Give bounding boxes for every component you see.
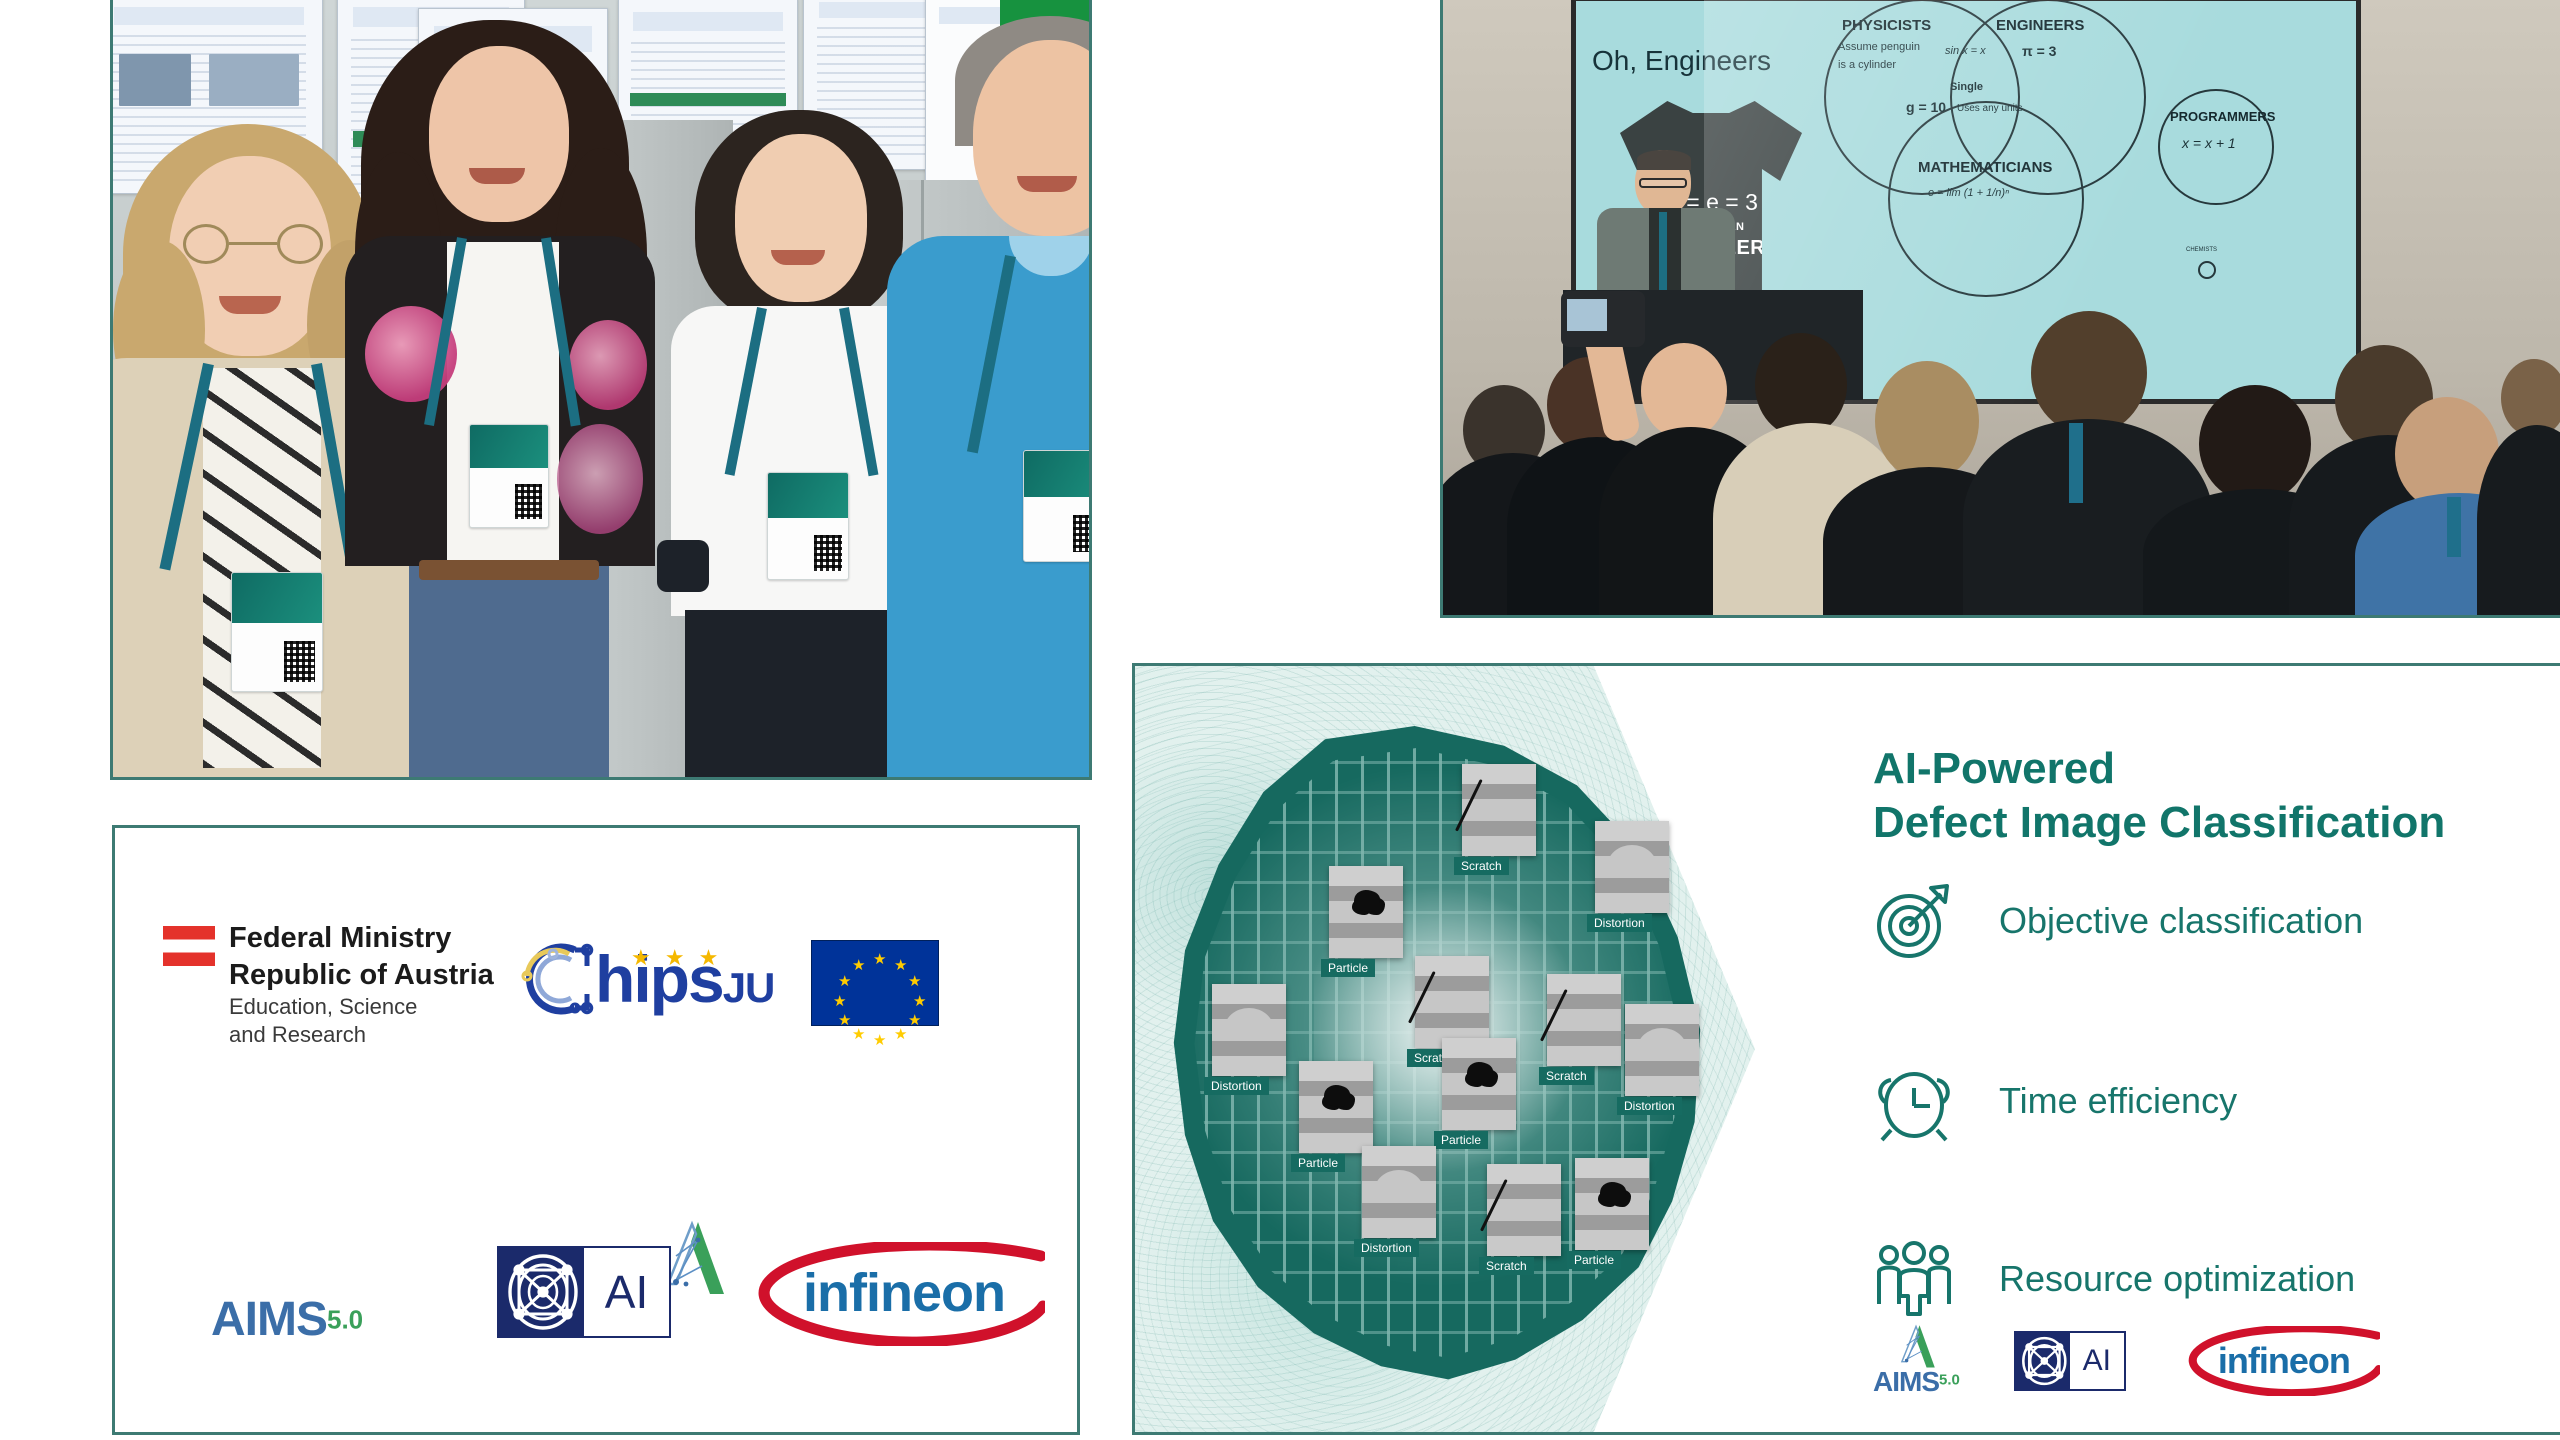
defect-tile-label: Particle bbox=[1291, 1154, 1345, 1172]
aims-mark-icon bbox=[1889, 1324, 1943, 1370]
chips-ju-suffix: JU bbox=[723, 964, 775, 1011]
aims-version: 5.0 bbox=[1939, 1372, 1960, 1389]
ministry-line-3: Education, Science bbox=[229, 993, 494, 1021]
jeans bbox=[409, 566, 609, 780]
defect-tile: Scratch bbox=[1547, 974, 1621, 1066]
logo-chips-ju: hipsJU ★ ★ ★ bbox=[513, 936, 774, 1022]
ai-logo-word: AI bbox=[584, 1248, 669, 1336]
defect-tile-label: Distortion bbox=[1354, 1239, 1419, 1257]
chips-stars: ★ ★ ★ bbox=[631, 945, 722, 971]
ai-logo-box: AI bbox=[497, 1246, 671, 1338]
lecture-hall-photo: Oh, Engineers π = e = 3 YES, I'M AN ENGI… bbox=[1440, 0, 2560, 618]
defect-tile-label: Scratch bbox=[1539, 1067, 1594, 1085]
alarm-clock-icon bbox=[1873, 1060, 1955, 1142]
chips-circuit-c-icon bbox=[513, 936, 599, 1022]
defect-tile-label: Distortion bbox=[1617, 1097, 1682, 1115]
defect-tile-label: Distortion bbox=[1204, 1077, 1269, 1095]
slide-heading-line-1: AI-Powered bbox=[1873, 742, 2445, 796]
defect-tile: Particle bbox=[1329, 866, 1403, 958]
feature-item-time: Time efficiency bbox=[1873, 1060, 2237, 1142]
feature-label: Time efficiency bbox=[1999, 1080, 2237, 1122]
aims-version: 5.0 bbox=[327, 1305, 363, 1335]
austria-flag-icon bbox=[163, 926, 215, 966]
defect-tile: Particle bbox=[1575, 1158, 1649, 1250]
audience bbox=[1443, 285, 2560, 615]
circuit-brain-graphic: Scratch Distortion Particle Scratch Dist… bbox=[1157, 726, 1717, 1386]
aims-word: AIMS bbox=[211, 1293, 327, 1346]
slide-heading: AI-Powered Defect Image Classification bbox=[1873, 742, 2445, 849]
infineon-word: infineon bbox=[2218, 1340, 2350, 1382]
ai-network-icon bbox=[499, 1248, 584, 1336]
slide-text-column: AI-Powered Defect Image Classification O… bbox=[1795, 666, 2560, 1432]
defect-tile: Particle bbox=[1442, 1038, 1516, 1130]
slide-logo-row: AIMS5.0 bbox=[1873, 1324, 2380, 1398]
ministry-line-4: and Research bbox=[229, 1021, 494, 1049]
defect-tile-label: Distortion bbox=[1587, 914, 1652, 932]
logo-eu-flag: ★ ★ ★ ★ ★ ★ ★ ★ ★ ★ ★ ★ bbox=[811, 940, 939, 1026]
defect-tile-label: Particle bbox=[1434, 1131, 1488, 1149]
defect-tile: Distortion bbox=[1595, 821, 1669, 913]
eu-flag-icon: ★ ★ ★ ★ ★ ★ ★ ★ ★ ★ ★ ★ bbox=[811, 940, 939, 1026]
defect-tile: Scratch bbox=[1415, 956, 1489, 1048]
person bbox=[913, 10, 1092, 780]
aims-word: AIMS bbox=[1873, 1366, 1939, 1397]
ai-defect-slide-panel: Scratch Distortion Particle Scratch Dist… bbox=[1132, 663, 2560, 1435]
infineon-logo: infineon bbox=[745, 1242, 1045, 1346]
logo-infineon-small: infineon bbox=[2180, 1326, 2380, 1396]
defect-tile: Particle bbox=[1299, 1061, 1373, 1153]
logo-infineon: infineon bbox=[745, 1242, 1045, 1346]
person bbox=[351, 20, 681, 780]
feature-label: Objective classification bbox=[1999, 900, 2363, 942]
sponsor-panel: Federal Ministry Republic of Austria Edu… bbox=[112, 825, 1080, 1435]
ai-logo-word: AI bbox=[2070, 1333, 2124, 1389]
defect-tile: Scratch bbox=[1462, 764, 1536, 856]
defect-tile-label: Scratch bbox=[1454, 857, 1509, 875]
feature-item-resource: Resource optimization bbox=[1873, 1238, 2355, 1320]
defect-tile: Distortion bbox=[1625, 1004, 1699, 1096]
defect-tile-label: Scratch bbox=[1479, 1257, 1534, 1275]
defect-tile: Distortion bbox=[1212, 984, 1286, 1076]
defect-tile-label: Particle bbox=[1567, 1251, 1621, 1269]
defect-tile: Scratch bbox=[1487, 1164, 1561, 1256]
logo-federal-ministry: Federal Ministry Republic of Austria Edu… bbox=[163, 920, 494, 1049]
logo-aims-small: AIMS5.0 bbox=[1873, 1324, 1960, 1398]
ai-network-icon bbox=[2016, 1333, 2070, 1389]
group-photo bbox=[110, 0, 1092, 780]
logo-ai-institute-small: AI bbox=[2014, 1331, 2126, 1391]
poster-collage: Oh, Engineers π = e = 3 YES, I'M AN ENGI… bbox=[0, 0, 2560, 1440]
ministry-line-2: Republic of Austria bbox=[229, 957, 494, 994]
defect-tile-label: Particle bbox=[1321, 959, 1375, 977]
camera bbox=[1561, 291, 1645, 347]
infineon-word: infineon bbox=[803, 1262, 1005, 1324]
ministry-line-1: Federal Ministry bbox=[229, 920, 494, 957]
people-group-icon bbox=[1873, 1238, 1955, 1320]
logo-ai-institute: AI bbox=[497, 1246, 671, 1338]
target-arrow-icon bbox=[1873, 880, 1955, 962]
defect-tile: Distortion bbox=[1362, 1146, 1436, 1238]
slide-heading-line-2: Defect Image Classification bbox=[1873, 796, 2445, 850]
badge bbox=[231, 572, 323, 692]
badge bbox=[1023, 450, 1092, 562]
badge bbox=[767, 472, 849, 580]
badge bbox=[469, 424, 549, 528]
feature-item-objective: Objective classification bbox=[1873, 880, 2363, 962]
feature-label: Resource optimization bbox=[1999, 1258, 2355, 1300]
